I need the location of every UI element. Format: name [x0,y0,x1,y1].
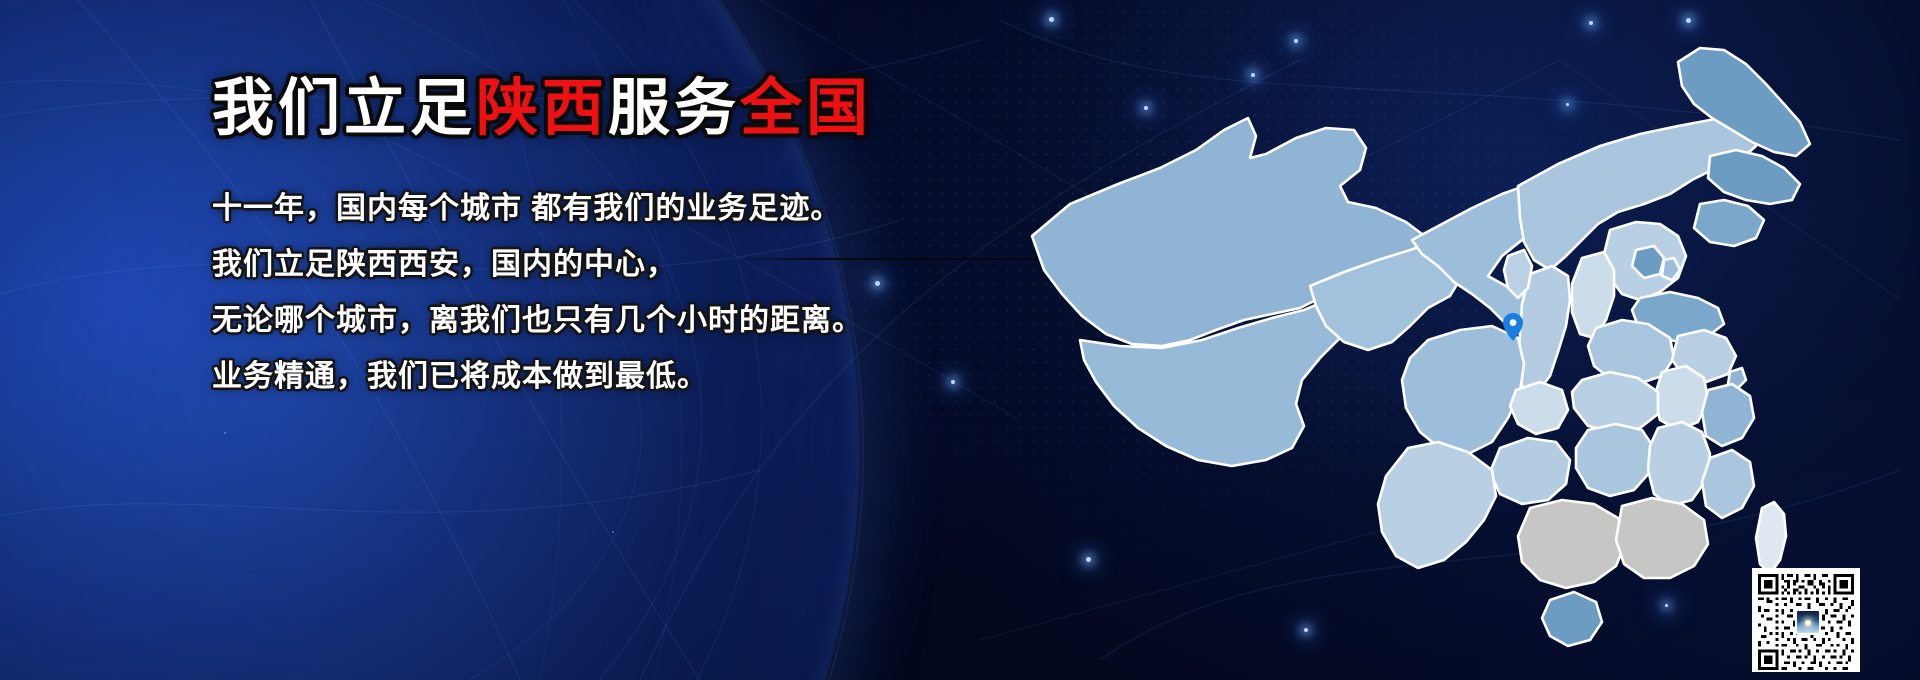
province-hainan [1542,592,1602,646]
province-sichuan [1402,326,1524,454]
province-hunan [1576,424,1654,496]
province-zhejiang [1702,384,1754,446]
subtext-line: 业务精通，我们已将成本做到最低。 [212,362,1032,392]
headline-segment-3: 服务 [608,74,740,143]
star-particle [612,531,614,533]
subtext-line: 十一年，国内每个城市 都有我们的业务足迹。 [212,194,1032,224]
province-liaoning [1694,200,1764,246]
headline-segment-2: 陕西 [476,74,608,143]
star-particle [224,432,226,434]
headline-segment-4: 全国 [740,74,872,143]
province-chongqing [1510,382,1568,434]
province-fujian [1702,450,1754,518]
banner-stage: 我们立足陕西服务全国 十一年，国内每个城市 都有我们的业务足迹。 我们立足陕西西… [0,0,1920,680]
province-guangdong [1616,498,1708,578]
location-pin-icon[interactable] [1503,313,1523,341]
province-taiwan [1756,502,1786,574]
copy-block: 我们立足陕西服务全国 十一年，国内每个城市 都有我们的业务足迹。 我们立足陕西西… [212,78,1032,392]
subtext-line: 无论哪个城市，离我们也只有几个小时的距离。 [212,306,1032,336]
page-title: 我们立足陕西服务全国 [212,78,1032,140]
province-jilin [1708,150,1800,204]
subtext-block: 十一年，国内每个城市 都有我们的业务足迹。 我们立足陕西西安，国内的中心， 无论… [212,194,1032,392]
province-jiangxi [1648,422,1710,506]
province-guangxi [1518,500,1626,588]
province-guizhou [1490,438,1570,504]
qr-center-logo-icon [1795,609,1821,635]
qr-code[interactable] [1752,568,1860,672]
province-yunnan [1378,442,1496,568]
subtext-line: 我们立足陕西西安，国内的中心， [212,250,1032,280]
province-anhui [1654,366,1708,430]
headline-segment-1: 我们立足 [212,74,476,143]
